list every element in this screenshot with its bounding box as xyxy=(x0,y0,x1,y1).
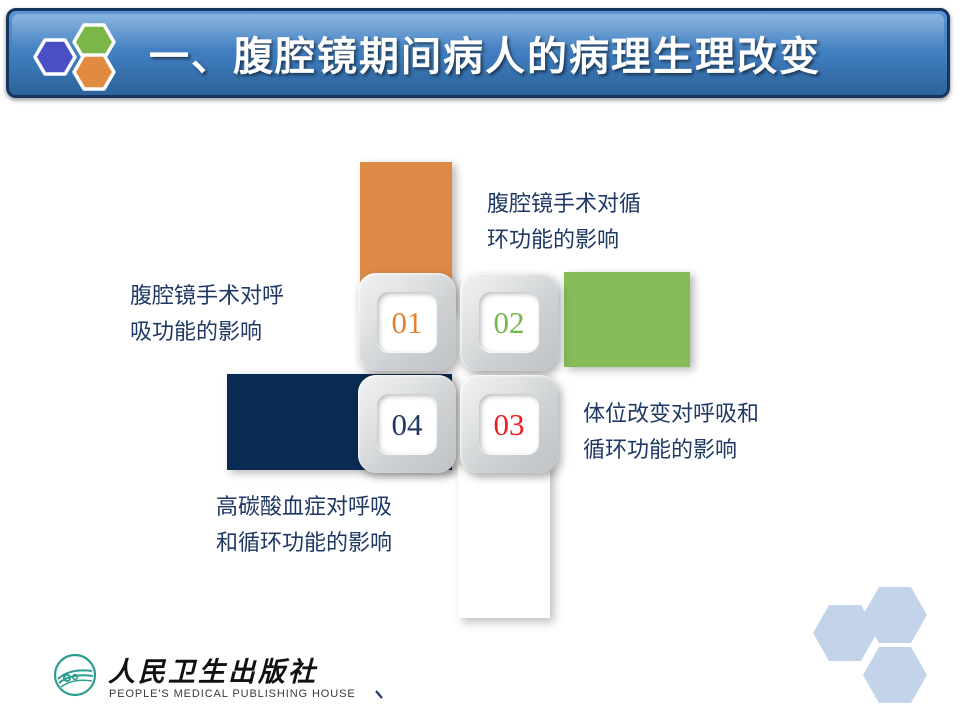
tile-inner-04: 04 xyxy=(377,394,437,454)
slide-canvas: 一、腹腔镜期间病人的病理生理改变 01 02 04 03 腹腔镜手术对呼 吸功能… xyxy=(0,0,960,720)
caption-04: 高碳酸血症对呼吸 和循环功能的影响 xyxy=(216,489,466,560)
tile-number-03: 03 xyxy=(494,409,525,440)
white-block xyxy=(458,466,550,618)
caption-03: 体位改变对呼吸和 循环功能的影响 xyxy=(583,396,833,467)
tile-number-04: 04 xyxy=(392,409,423,440)
tick-mark xyxy=(375,686,384,695)
hex-orange-icon xyxy=(74,55,114,89)
hexagon-logo xyxy=(27,23,137,91)
number-tile-04[interactable]: 04 xyxy=(358,375,456,473)
number-tile-01[interactable]: 01 xyxy=(358,273,456,371)
number-tile-03[interactable]: 03 xyxy=(460,375,558,473)
tile-number-01: 01 xyxy=(392,307,423,338)
publisher-logo: 人民卫生出版社 PEOPLE'S MEDICAL PUBLISHING HOUS… xyxy=(52,652,327,708)
caption-02: 腹腔镜手术对循 环功能的影响 xyxy=(487,186,717,257)
number-tile-02[interactable]: 02 xyxy=(460,273,558,371)
green-block xyxy=(564,272,690,367)
hex-blue-icon xyxy=(35,40,75,74)
slide-title-bar: 一、腹腔镜期间病人的病理生理改变 xyxy=(6,8,950,98)
caption-01: 腹腔镜手术对呼 吸功能的影响 xyxy=(130,278,365,349)
publisher-name-cn: 人民卫生出版社 xyxy=(108,650,318,689)
tile-inner-01: 01 xyxy=(377,292,437,352)
tile-inner-03: 03 xyxy=(479,394,539,454)
publisher-emblem-icon xyxy=(52,652,98,698)
tile-number-02: 02 xyxy=(494,307,525,338)
publisher-name-en: PEOPLE'S MEDICAL PUBLISHING HOUSE xyxy=(109,688,356,700)
page-title: 一、腹腔镜期间病人的病理生理改变 xyxy=(149,24,821,82)
decorative-hexagons xyxy=(805,585,955,710)
tile-inner-02: 02 xyxy=(479,292,539,352)
deco-hex-bottom-icon xyxy=(863,647,927,703)
